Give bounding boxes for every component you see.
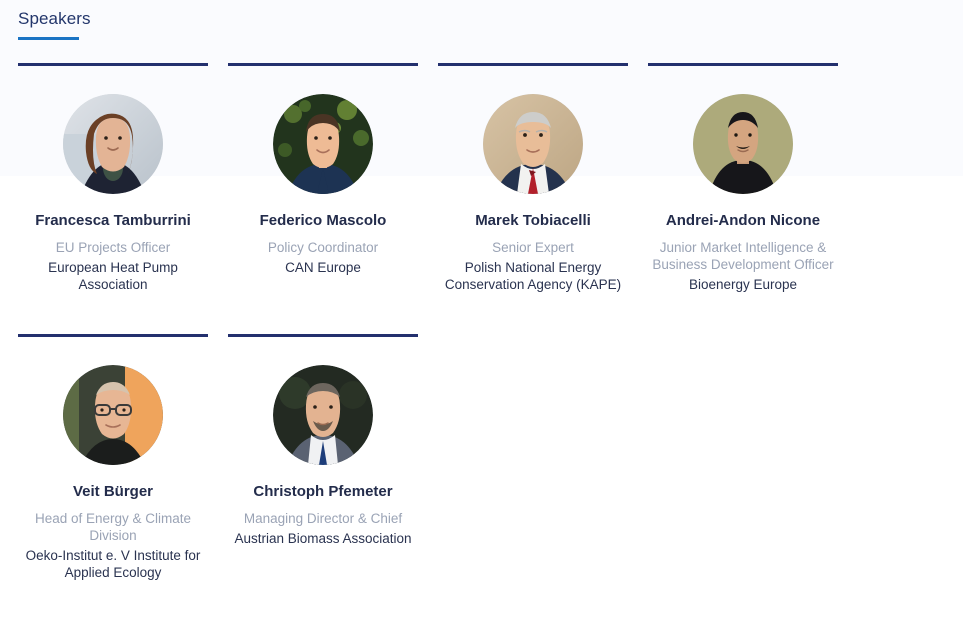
speaker-name: Christoph Pfemeter xyxy=(228,482,418,501)
speaker-role: Policy Coordinator xyxy=(228,239,418,256)
avatar-federico-mascolo xyxy=(273,94,373,194)
page-title: Speakers xyxy=(18,8,945,30)
speaker-card[interactable]: Andrei-Andon Nicone Junior Market Intell… xyxy=(648,63,838,293)
speakers-page: Speakers xyxy=(0,0,963,633)
speaker-name: Francesca Tamburrini xyxy=(18,211,208,230)
page-content: Speakers xyxy=(0,0,963,581)
avatar-christoph-pfemeter xyxy=(273,365,373,465)
speaker-card[interactable]: Marek Tobiacelli Senior Expert Polish Na… xyxy=(438,63,628,293)
speaker-name: Marek Tobiacelli xyxy=(438,211,628,230)
speaker-card[interactable]: Christoph Pfemeter Managing Director & C… xyxy=(228,334,418,547)
title-underline-accent xyxy=(18,37,79,40)
speaker-name: Veit Bürger xyxy=(18,482,208,501)
speaker-organization: Polish National Energy Conservation Agen… xyxy=(438,259,628,293)
speakers-grid: Francesca Tamburrini EU Projects Officer… xyxy=(18,63,945,581)
speaker-card[interactable]: Federico Mascolo Policy Coordinator CAN … xyxy=(228,63,418,276)
speaker-organization: Austrian Biomass Association xyxy=(228,530,418,547)
speaker-name: Andrei-Andon Nicone xyxy=(648,211,838,230)
avatar-francesca-tamburrini xyxy=(63,94,163,194)
speaker-card[interactable]: Francesca Tamburrini EU Projects Officer… xyxy=(18,63,208,293)
speaker-role: Senior Expert xyxy=(438,239,628,256)
speaker-role: EU Projects Officer xyxy=(18,239,208,256)
avatar-marek-tobiacelli xyxy=(483,94,583,194)
speaker-role: Managing Director & Chief xyxy=(228,510,418,527)
speaker-organization: Oeko-Institut e. V Institute for Applied… xyxy=(18,547,208,581)
avatar-andrei-andon-nicone xyxy=(693,94,793,194)
speaker-organization: European Heat Pump Association xyxy=(18,259,208,293)
speaker-organization: CAN Europe xyxy=(228,259,418,276)
speaker-role: Junior Market Intelligence & Business De… xyxy=(648,239,838,273)
speaker-name: Federico Mascolo xyxy=(228,211,418,230)
speaker-organization: Bioenergy Europe xyxy=(648,276,838,293)
avatar-veit-burger xyxy=(63,365,163,465)
section-header: Speakers xyxy=(18,0,945,40)
speaker-card[interactable]: Veit Bürger Head of Energy & Climate Div… xyxy=(18,334,208,581)
speaker-role: Head of Energy & Climate Division xyxy=(18,510,208,544)
